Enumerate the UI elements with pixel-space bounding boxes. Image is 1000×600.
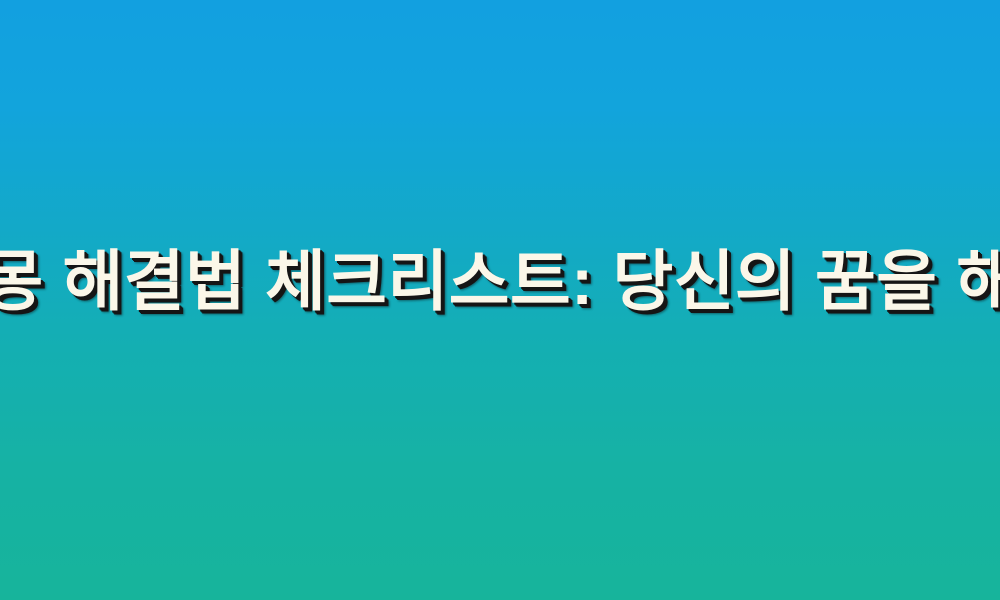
headline-band: 악몽 해결법 체크리스트: 당신의 꿈을 해석 (0, 0, 1000, 600)
banner-headline: 악몽 해결법 체크리스트: 당신의 꿈을 해석 (0, 248, 1000, 314)
banner-canvas: 악몽 해결법 체크리스트: 당신의 꿈을 해석 (0, 0, 1000, 600)
